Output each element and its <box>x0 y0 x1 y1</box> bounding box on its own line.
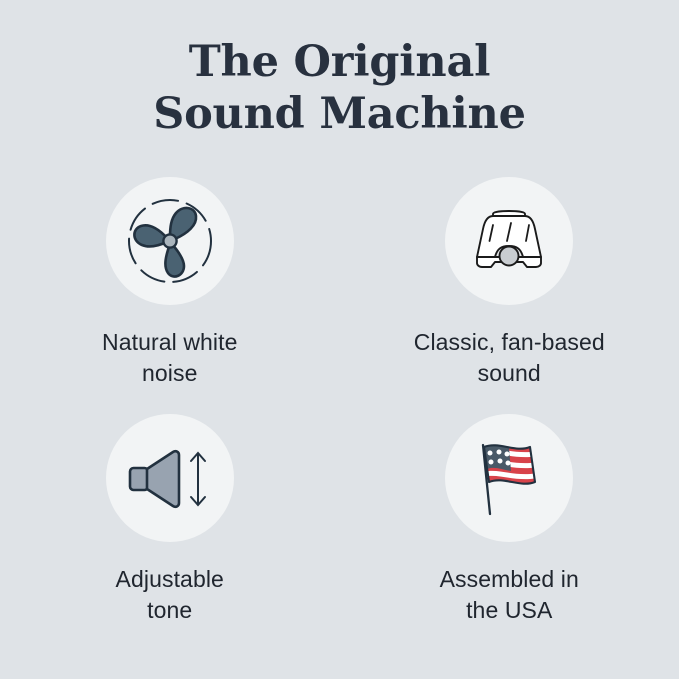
speaker-volume-icon-badge <box>106 414 234 542</box>
feature-adjustable-tone: Adjustable tone <box>0 414 340 627</box>
feature-label-line-1: Natural white <box>102 329 238 355</box>
sound-machine-icon <box>457 189 561 293</box>
product-feature-panel: The Original Sound Machine <box>0 0 679 679</box>
feature-classic-fan-based-sound: Classic, fan-based sound <box>340 177 679 390</box>
feature-label-line-2: tone <box>147 597 192 623</box>
page-title: The Original Sound Machine <box>0 36 679 141</box>
feature-label: Adjustable tone <box>116 564 224 627</box>
speaker-volume-icon <box>118 426 222 530</box>
feature-label: Assembled in the USA <box>440 564 579 627</box>
usa-flag-icon-badge <box>445 414 573 542</box>
feature-label-line-1: Adjustable <box>116 566 224 592</box>
feature-label-line-2: the USA <box>466 597 552 623</box>
title-line-2: Sound Machine <box>0 88 679 140</box>
usa-flag-icon <box>457 426 561 530</box>
fan-icon <box>118 189 222 293</box>
feature-assembled-in-usa: Assembled in the USA <box>340 414 679 627</box>
feature-label: Classic, fan-based sound <box>414 327 605 390</box>
feature-natural-white-noise: Natural white noise <box>0 177 340 390</box>
feature-label-line-1: Assembled in <box>440 566 579 592</box>
feature-label-line-2: sound <box>478 360 541 386</box>
title-line-1: The Original <box>0 36 679 88</box>
sound-machine-icon-badge <box>445 177 573 305</box>
fan-icon-badge <box>106 177 234 305</box>
feature-label: Natural white noise <box>102 327 238 390</box>
feature-grid: Natural white noise <box>0 177 679 627</box>
feature-label-line-1: Classic, fan-based <box>414 329 605 355</box>
feature-label-line-2: noise <box>142 360 197 386</box>
